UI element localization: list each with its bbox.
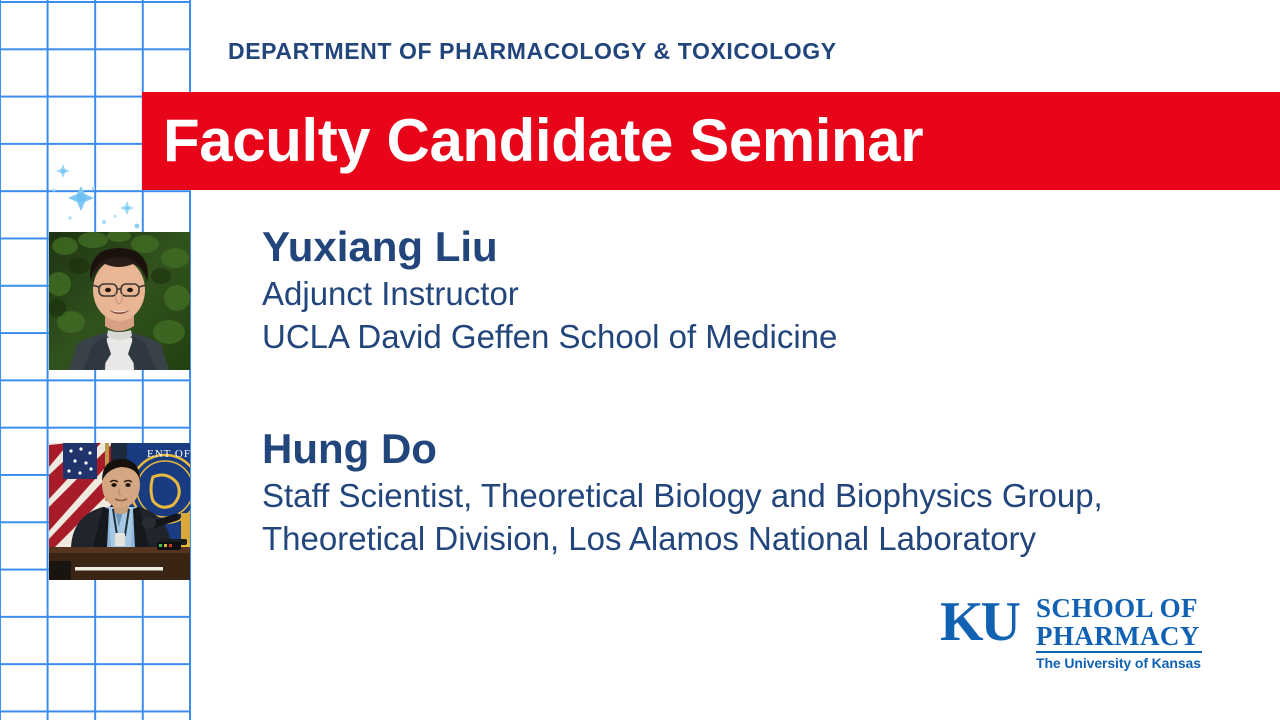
speaker-block-1: Yuxiang Liu Adjunct Instructor UCLA Davi… <box>262 222 837 359</box>
page-title: DEPARTMENT OF PHARMACOLOGY & TOXICOLOGY <box>228 38 837 65</box>
ku-monogram: KU <box>940 594 1018 650</box>
speaker-detail-line: Adjunct Instructor <box>262 272 837 316</box>
speaker-detail-line: Staff Scientist, Theoretical Biology and… <box>262 474 1103 518</box>
speaker-detail-line: Theoretical Division, Los Alamos Nationa… <box>262 517 1103 561</box>
speaker-detail-line: UCLA David Geffen School of Medicine <box>262 315 837 359</box>
ku-logo-wordmark: SCHOOL OF PHARMACY <box>1036 595 1200 650</box>
portrait-yuxiang-liu <box>49 232 190 370</box>
portrait-hung-do: ENT OF <box>49 443 190 580</box>
speaker-block-2: Hung Do Staff Scientist, Theoretical Bio… <box>262 424 1103 561</box>
speaker-name: Hung Do <box>262 424 1103 474</box>
ku-logo-line-1: SCHOOL OF <box>1036 593 1198 623</box>
seminar-announcement-slide: DEPARTMENT OF PHARMACOLOGY & TOXICOLOGY … <box>0 0 1280 720</box>
ku-school-of-pharmacy-logo: KU SCHOOL OF PHARMACY The University of … <box>940 594 1202 670</box>
ku-logo-line-2: PHARMACY <box>1036 623 1200 650</box>
svg-text:ENT OF: ENT OF <box>147 448 190 460</box>
banner-title: Faculty Candidate Seminar <box>163 104 1213 178</box>
ku-logo-tagline: The University of Kansas <box>1036 655 1201 671</box>
speaker-name: Yuxiang Liu <box>262 222 837 272</box>
ku-logo-divider <box>1036 651 1202 653</box>
